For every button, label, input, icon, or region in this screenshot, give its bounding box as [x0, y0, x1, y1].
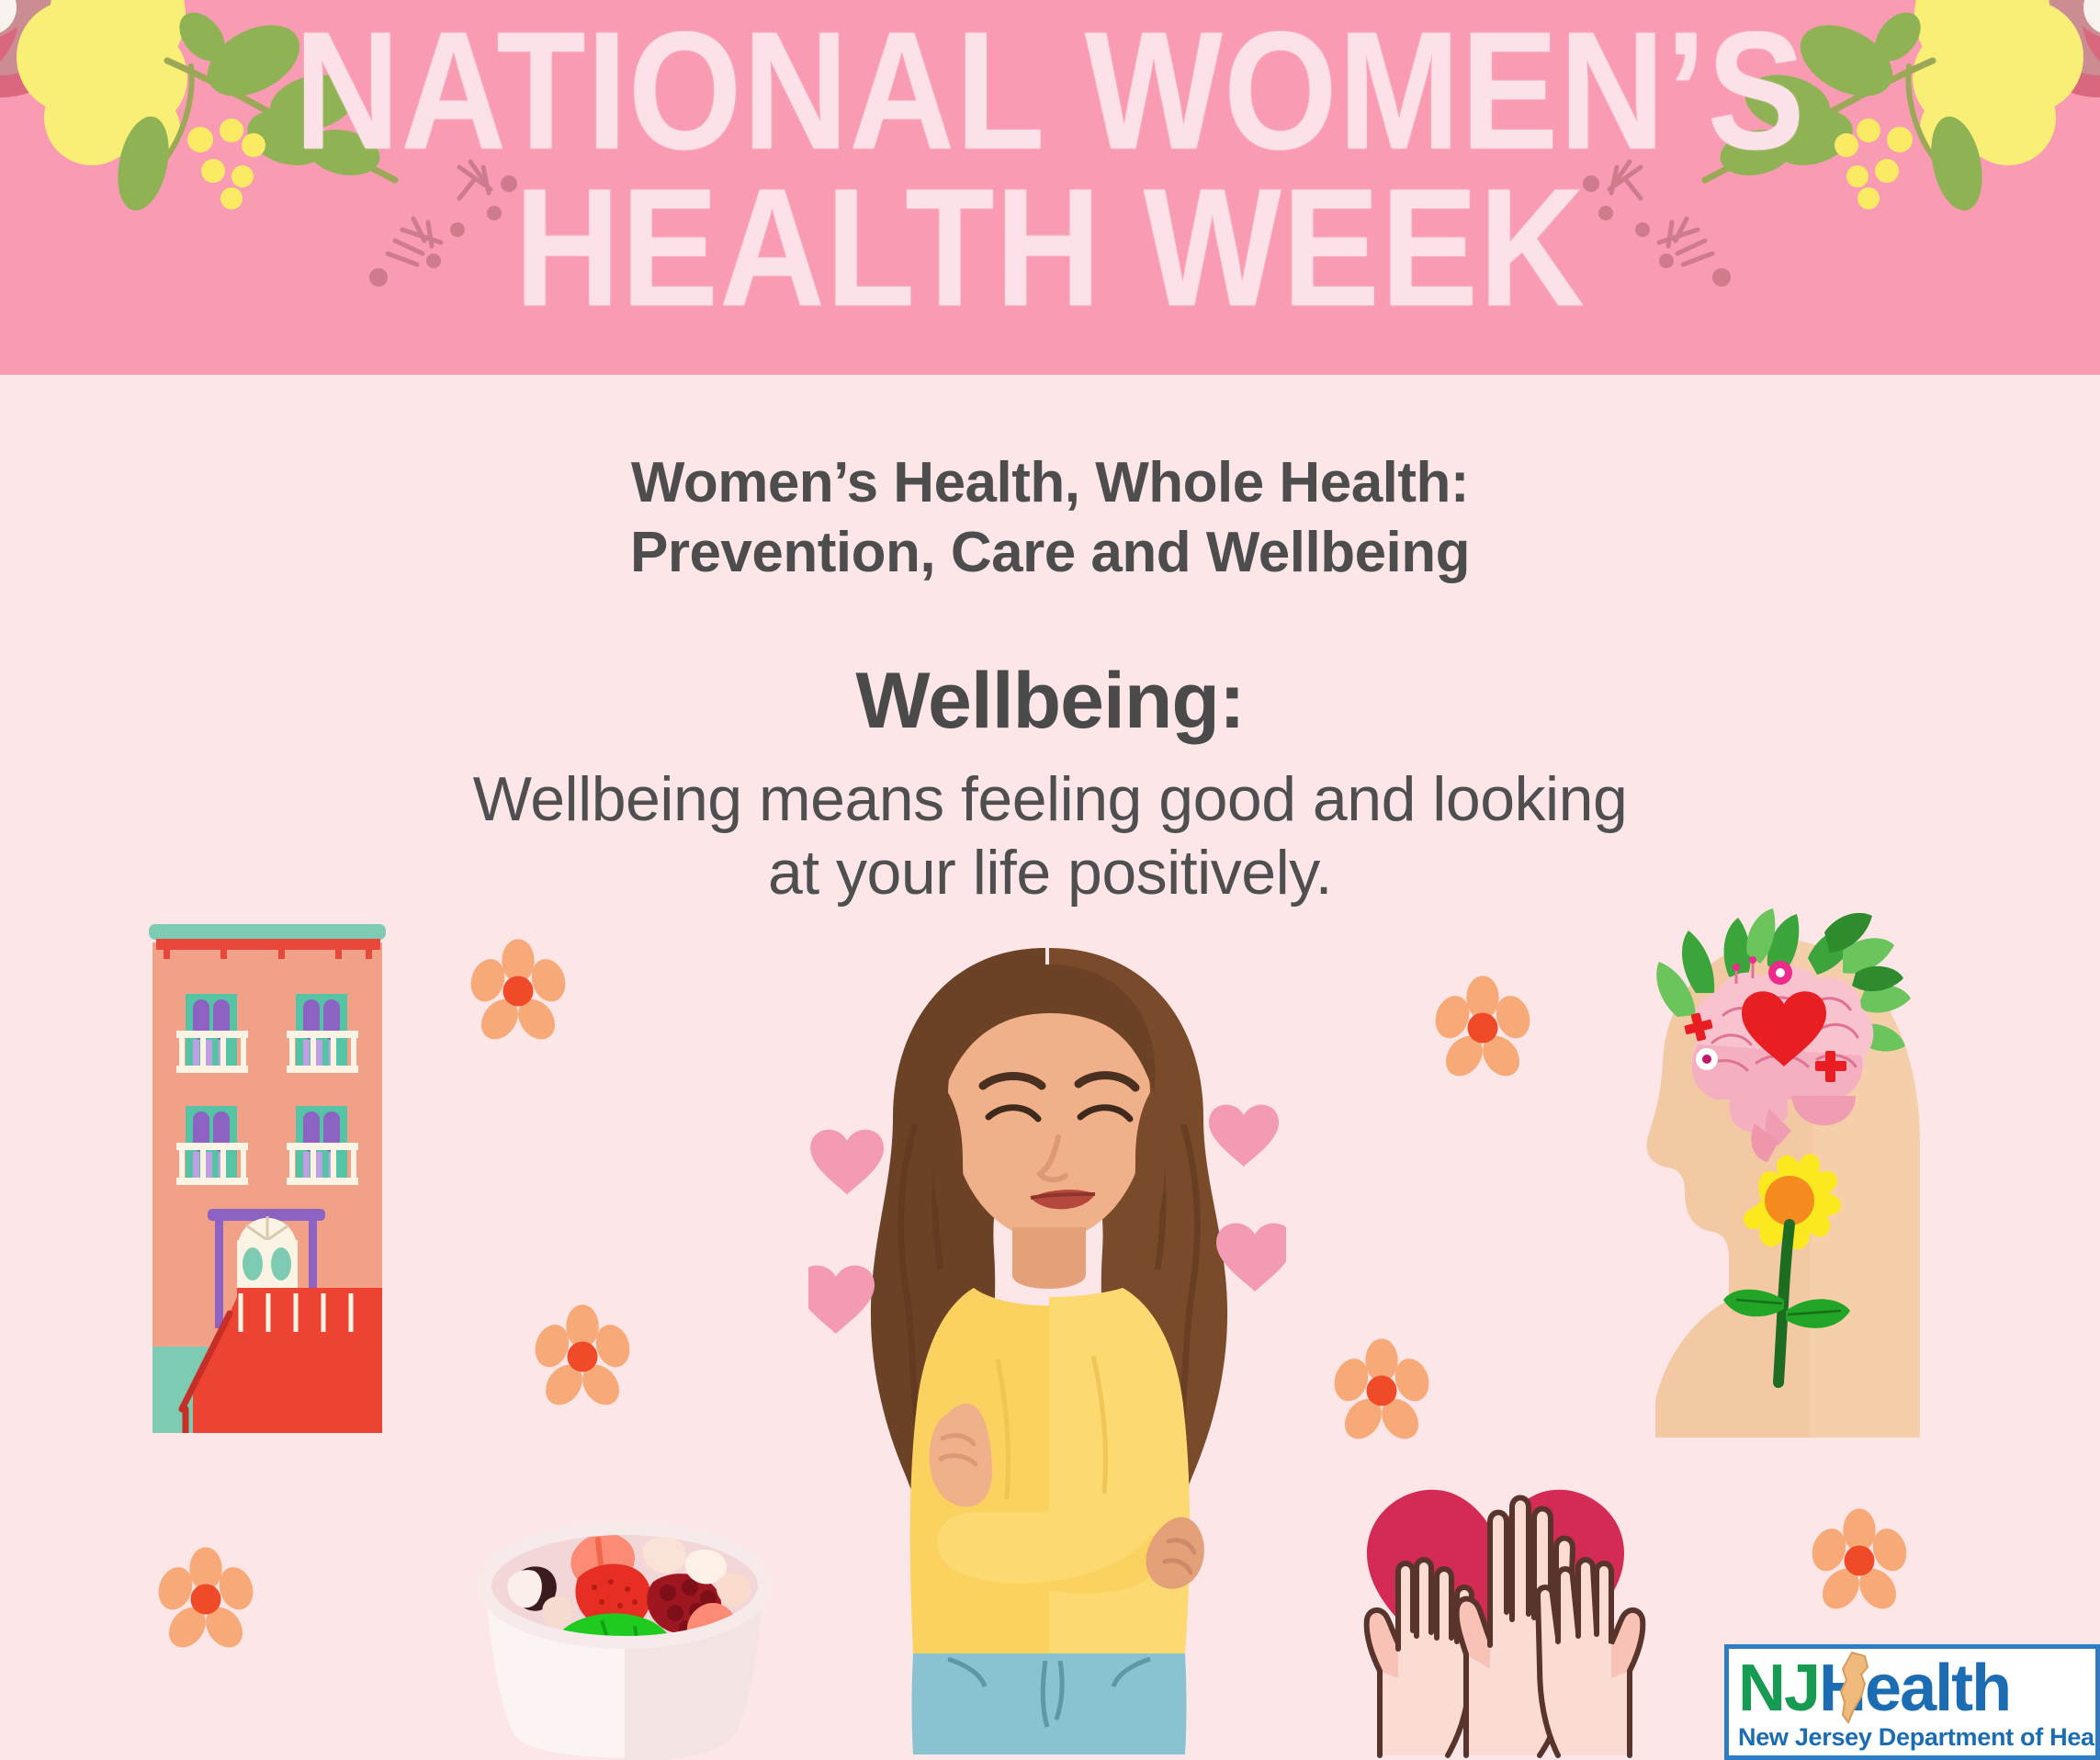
apartment-building-illustration [129, 917, 404, 1433]
nj-logo-nj-text: NJ [1738, 1652, 1819, 1725]
poster-canvas: NATIONAL WOMEN’S HEALTH WEEK Women’s Hea… [0, 0, 2100, 1760]
poster-header: NATIONAL WOMEN’S HEALTH WEEK [0, 0, 2100, 375]
poster-subtitle: Women’s Health, Whole Health: Prevention… [0, 448, 2100, 587]
nj-health-wordmark-row: NJHealth [1738, 1654, 2086, 1722]
deco-flower-icon [152, 1545, 260, 1653]
section-body-line-2: at your life positively. [0, 836, 2100, 909]
woman-self-hug-illustration [808, 928, 1286, 1760]
subtitle-line-2: Prevention, Care and Wellbeing [0, 518, 2100, 588]
deco-flower-icon [464, 937, 572, 1045]
deco-flower-icon [528, 1303, 637, 1411]
hands-heart-illustration [1360, 1474, 1681, 1760]
nj-logo-tagline: New Jersey Department of Health [1738, 1722, 2086, 1752]
nj-health-logo: NJHealth New Jersey Department of Health [1724, 1644, 2100, 1760]
title-line-2: HEALTH WEEK [0, 169, 2100, 325]
head-brain-flower-illustration [1644, 905, 1929, 1438]
deco-flower-icon [1805, 1506, 1914, 1615]
deco-flower-icon [1327, 1337, 1436, 1445]
deco-flower-icon [1428, 974, 1537, 1082]
new-jersey-state-icon [1837, 1651, 1876, 1724]
page-title: NATIONAL WOMEN’S HEALTH WEEK [0, 13, 2100, 325]
subtitle-line-1: Women’s Health, Whole Health: [0, 448, 2100, 518]
fruit-bowl-illustration [455, 1506, 795, 1760]
section-title: Wellbeing: [0, 656, 2100, 747]
section-body: Wellbeing means feeling good and looking… [0, 762, 2100, 909]
section-body-line-1: Wellbeing means feeling good and looking [0, 762, 2100, 836]
